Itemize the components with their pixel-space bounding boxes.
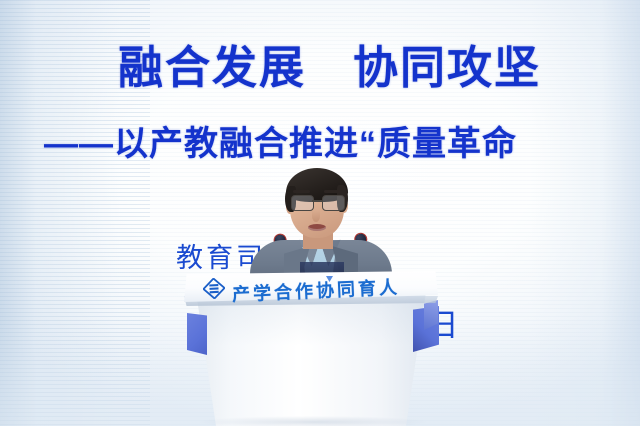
- mouth: [308, 224, 326, 231]
- podium-accent-panel-left: [187, 313, 207, 355]
- podium-floor-shadow: [200, 416, 426, 426]
- glasses-icon: [291, 195, 345, 210]
- glasses-bridge: [312, 200, 322, 202]
- eyebrow-right: [324, 190, 341, 193]
- slide-subtitle: ——以产教融合推进“质量革命: [44, 126, 640, 163]
- podium-body-shading: [186, 292, 436, 426]
- slide-title: 融合发展 协同攻坚: [118, 44, 640, 91]
- conference-photo: 融合发展 协同攻坚 ——以产教融合推进“质量革命 教育司 吴岩 月 30 日: [0, 0, 640, 426]
- glasses-lens-right: [322, 195, 345, 211]
- eyebrow-left: [293, 190, 310, 193]
- diamond-layers-logo-icon: [202, 277, 225, 299]
- glasses-lens-left: [291, 195, 314, 211]
- nose: [312, 210, 320, 222]
